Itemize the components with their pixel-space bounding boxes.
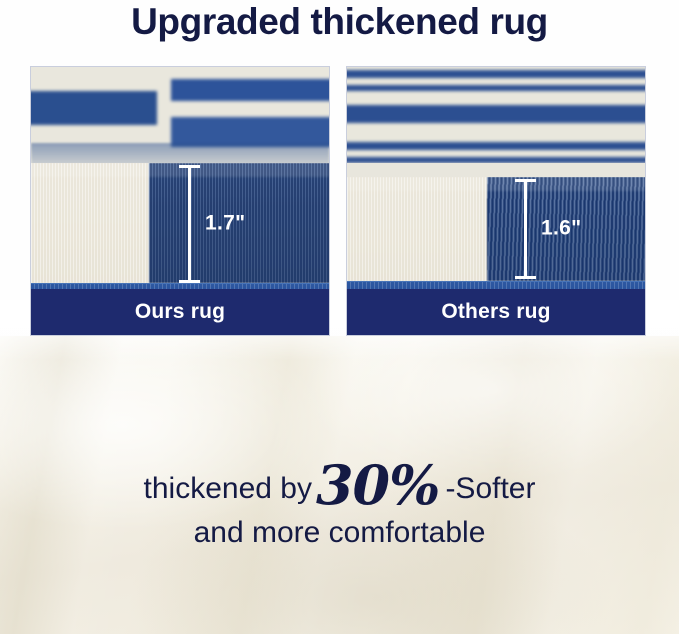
panel-label-ours: Ours rug bbox=[135, 300, 225, 324]
panel-others-rug: 1.6" Others rug bbox=[346, 66, 646, 336]
rug-pile-cross-section-others bbox=[347, 177, 645, 281]
measure-stem-icon bbox=[524, 179, 527, 279]
claim-line-1: thickened by30%-Softer bbox=[0, 462, 679, 512]
pile-fringe-tips bbox=[347, 177, 645, 191]
panel-ours-rug: 1.7" Ours rug bbox=[30, 66, 330, 336]
claim-prefix: thickened by bbox=[144, 472, 312, 505]
measure-cap-bottom-icon bbox=[179, 280, 200, 283]
comparison-panels: 1.7" Ours rug 1.6" Others rug bbox=[30, 66, 646, 336]
thickness-measure-ours: 1.7" bbox=[179, 165, 200, 283]
thickness-measure-others: 1.6" bbox=[515, 179, 536, 279]
thickness-value-ours: 1.7" bbox=[205, 212, 245, 236]
panel-label-band-ours: Ours rug bbox=[31, 289, 329, 335]
rug-surface-pattern-others bbox=[347, 67, 645, 163]
measure-cap-bottom-icon bbox=[515, 276, 536, 279]
measure-stem-icon bbox=[188, 165, 191, 283]
product-infographic: Upgraded thickened rug 1.7" Ours rug bbox=[0, 0, 679, 634]
pile-segment-cream bbox=[347, 177, 493, 281]
pile-segment-cream bbox=[31, 163, 153, 283]
panel-label-others: Others rug bbox=[441, 300, 550, 324]
claim-suffix: -Softer bbox=[445, 472, 535, 505]
claim-block: thickened by30%-Softer and more comforta… bbox=[0, 462, 679, 554]
thickness-value-others: 1.6" bbox=[541, 217, 581, 241]
panel-label-band-others: Others rug bbox=[347, 289, 645, 335]
claim-percent: 30% bbox=[316, 453, 439, 517]
rug-surface-pattern-ours bbox=[31, 67, 329, 163]
page-title: Upgraded thickened rug bbox=[0, 0, 679, 46]
claim-line-2: and more comfortable bbox=[0, 512, 679, 554]
